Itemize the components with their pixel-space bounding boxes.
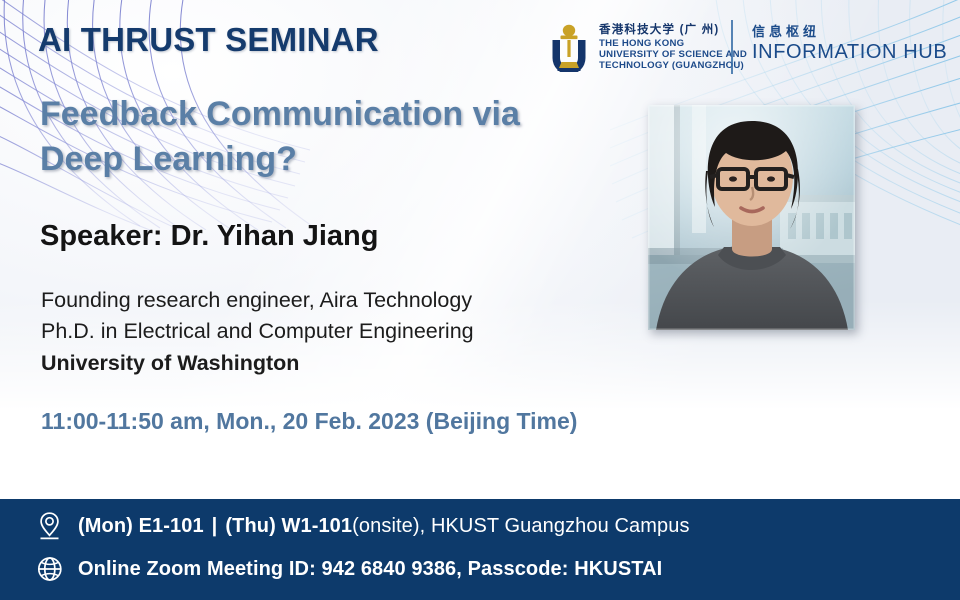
logo-english-line-3: TECHNOLOGY (GUANGZHOU)	[599, 60, 747, 71]
affiliation-line-2: Ph.D. in Electrical and Computer Enginee…	[41, 316, 474, 347]
information-hub-brand: 信息枢纽 INFORMATION HUB	[752, 24, 947, 64]
portrait-image	[648, 105, 855, 330]
hub-chinese-name: 信息枢纽	[752, 24, 947, 40]
speaker-affiliation: Founding research engineer, Aira Technol…	[41, 285, 474, 379]
speaker-portrait	[648, 105, 855, 330]
seminar-poster: AI THRUST SEMINAR 香港科技大学 (广 州) THE HONG …	[0, 0, 960, 600]
logo-divider	[731, 20, 733, 74]
venue-text: (Mon) E1-101|(Thu) W1-101(onsite), HKUST…	[78, 515, 690, 538]
speaker-name: Speaker: Dr. Yihan Jiang	[40, 220, 378, 253]
venue-row: (Mon) E1-101|(Thu) W1-101(onsite), HKUST…	[36, 511, 690, 541]
event-datetime: 11:00-11:50 am, Mon., 20 Feb. 2023 (Beij…	[41, 408, 577, 435]
footer-bar: (Mon) E1-101|(Thu) W1-101(onsite), HKUST…	[0, 499, 960, 600]
venue-part-1: (Mon) E1-101	[78, 515, 204, 537]
venue-part-2: (Thu) W1-101	[225, 515, 352, 537]
logo-chinese-name: 香港科技大学 (广 州)	[599, 24, 747, 38]
online-row: Online Zoom Meeting ID: 942 6840 9386, P…	[36, 554, 662, 584]
hub-english-name: INFORMATION HUB	[752, 40, 947, 64]
hkust-crest-icon	[548, 24, 590, 72]
page-title: AI THRUST SEMINAR	[38, 21, 379, 59]
hkust-logo-text: 香港科技大学 (广 州) THE HONG KONG UNIVERSITY OF…	[599, 24, 747, 72]
talk-title-line-1: Feedback Communication via	[40, 92, 640, 137]
logo-english-line-2: UNIVERSITY OF SCIENCE AND	[599, 49, 747, 60]
talk-title-line-2: Deep Learning?	[40, 137, 640, 182]
location-pin-icon	[36, 511, 64, 541]
venue-part-3: (onsite), HKUST Guangzhou Campus	[352, 515, 689, 537]
logo-english-line-1: THE HONG KONG	[599, 38, 747, 49]
venue-separator: |	[204, 515, 226, 537]
affiliation-line-1: Founding research engineer, Aira Technol…	[41, 285, 474, 316]
affiliation-line-3: University of Washington	[41, 348, 474, 379]
talk-title: Feedback Communication via Deep Learning…	[40, 92, 640, 182]
hkust-logo: 香港科技大学 (广 州) THE HONG KONG UNIVERSITY OF…	[548, 17, 747, 79]
globe-icon	[36, 554, 64, 584]
online-meeting-text: Online Zoom Meeting ID: 942 6840 9386, P…	[78, 558, 662, 581]
